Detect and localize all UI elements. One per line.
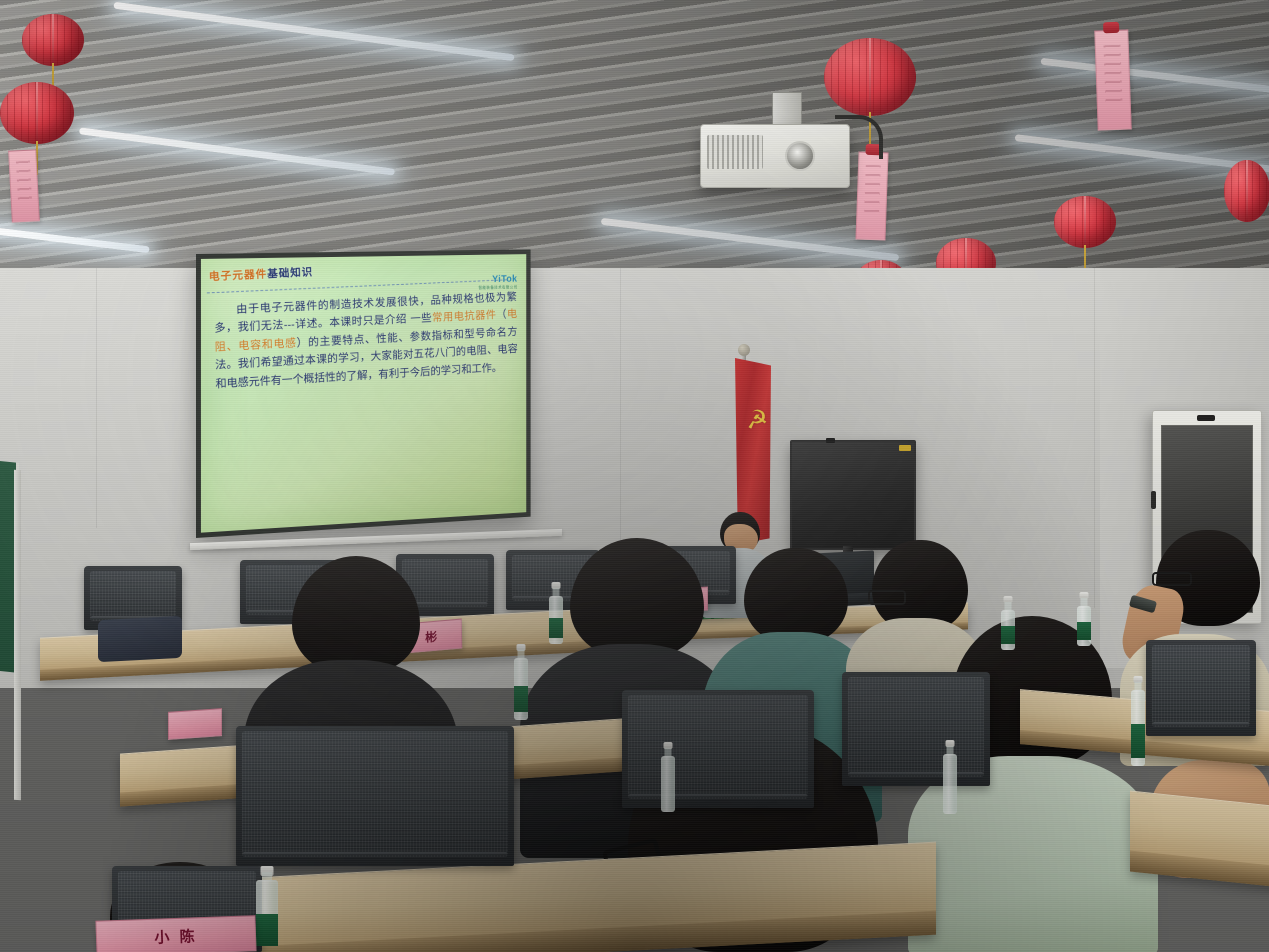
slide-line-3-highlight: 常用电抗器件 — [432, 310, 497, 325]
bottle-label — [1001, 626, 1015, 644]
attendee-head — [292, 556, 420, 674]
wall-seam — [1094, 268, 1095, 608]
chair-mesh — [1152, 645, 1250, 727]
ceiling-light-3 — [601, 218, 900, 262]
bottle-body — [943, 754, 957, 814]
name-placard-bottom: 小 陈 — [95, 915, 256, 952]
chair-bar — [243, 852, 507, 855]
wish-tag-2 — [855, 152, 888, 241]
water-bottle-9[interactable] — [1076, 592, 1092, 646]
water-bottle-6[interactable] — [940, 740, 960, 818]
chair-mesh — [628, 695, 808, 799]
wall-seam — [96, 268, 97, 528]
projector-lens — [785, 141, 815, 171]
projector-cable — [835, 115, 883, 159]
water-bottle-5[interactable] — [658, 742, 678, 816]
wish-tag-text — [864, 165, 880, 219]
lantern-ball — [824, 38, 916, 116]
display-badge — [899, 445, 911, 451]
water-bottle-8[interactable] — [1000, 596, 1016, 650]
portrait-display-camera-icon — [1197, 415, 1215, 421]
slide-title-main: 电子元器件 — [209, 269, 268, 284]
chair-bar — [849, 772, 983, 775]
bottle-label — [1077, 622, 1091, 640]
ceiling-light-2 — [79, 127, 395, 175]
projection-screen: 电子元器件基础知识 YiTok 智能装备技术有限公司 由于电子元器件的制造技术发… — [196, 249, 531, 538]
lantern-ball — [1224, 160, 1269, 222]
water-bottle-4[interactable] — [512, 644, 530, 724]
wall-display[interactable] — [790, 440, 916, 550]
slide-line-3a: 是介绍 一些 — [374, 313, 432, 327]
chair-foreground-1[interactable] — [236, 726, 514, 866]
attendee-glasses-icon — [868, 590, 906, 605]
chair-foreground-3[interactable] — [842, 672, 990, 786]
slide-body: 由于电子元器件的制造技术发展很快，品种规格也极为繁多，我们无法---详述。本课时… — [214, 289, 519, 394]
flag-finial — [738, 344, 750, 356]
photo-scene: 电子元器件基础知识 YiTok 智能装备技术有限公司 由于电子元器件的制造技术发… — [0, 0, 1269, 952]
slatted-ceiling — [0, 0, 1269, 300]
attendee-head — [744, 548, 848, 644]
wish-tag-text — [1103, 44, 1122, 105]
paper-lantern-3 — [824, 38, 916, 116]
chair-mesh — [848, 677, 984, 777]
attendee-glasses-icon — [1152, 572, 1192, 586]
chair-foreground-2[interactable] — [622, 690, 814, 808]
lantern-ball — [22, 14, 84, 66]
wall-seam — [620, 268, 621, 568]
slide-title-suffix: 基础知识 — [267, 267, 313, 281]
slide-line-3b: （ — [496, 310, 507, 322]
slide-logo: YiTok 智能装备技术有限公司 — [479, 275, 518, 290]
paper-lantern-5 — [1054, 196, 1116, 248]
ceiling-light-1 — [113, 2, 514, 62]
paper-lantern-2 — [0, 82, 74, 144]
water-bottle-10[interactable] — [254, 866, 280, 952]
slide-surface: 电子元器件基础知识 YiTok 智能装备技术有限公司 由于电子元器件的制造技术发… — [201, 254, 526, 533]
bottle-label — [514, 686, 528, 712]
projector-vent — [707, 135, 763, 169]
wish-tag-3 — [1094, 29, 1131, 130]
wish-tag-cap — [1103, 22, 1119, 34]
paper-lantern-4 — [1224, 160, 1269, 222]
chair-mesh — [242, 731, 508, 857]
bottle-label — [256, 914, 278, 946]
chair-mesh — [90, 571, 176, 621]
display-camera-icon — [826, 438, 835, 443]
wish-tag-text — [16, 160, 32, 204]
ceiling-light-6 — [0, 226, 150, 254]
lantern-ball — [1054, 196, 1116, 248]
ceiling-light-4 — [1040, 58, 1269, 94]
slide-title: 电子元器件基础知识 — [209, 264, 314, 285]
portrait-display-button[interactable] — [1151, 491, 1156, 509]
bottle-body — [661, 756, 675, 812]
name-placard-mid-left — [168, 708, 222, 740]
chair-bar — [1153, 722, 1249, 725]
paper-lantern-1 — [22, 14, 84, 66]
wall-post — [14, 470, 21, 800]
flag-emblem-icon: ☭ — [743, 403, 770, 439]
placard-label: 小 陈 — [154, 925, 198, 947]
bottle-label — [1131, 724, 1145, 758]
ceiling-projector — [700, 124, 850, 188]
chair-bar — [629, 794, 807, 797]
wish-tag-1 — [8, 149, 40, 222]
attendee-head — [570, 538, 704, 658]
slide-line-7: 利于今后的学习和工作。 — [389, 362, 502, 380]
slide-line-3c: ） — [297, 337, 309, 349]
chair-foreground-4[interactable] — [1146, 640, 1256, 736]
water-bottle-7[interactable] — [1128, 676, 1148, 772]
lantern-ball — [0, 82, 74, 144]
bag-on-chair — [98, 616, 182, 662]
